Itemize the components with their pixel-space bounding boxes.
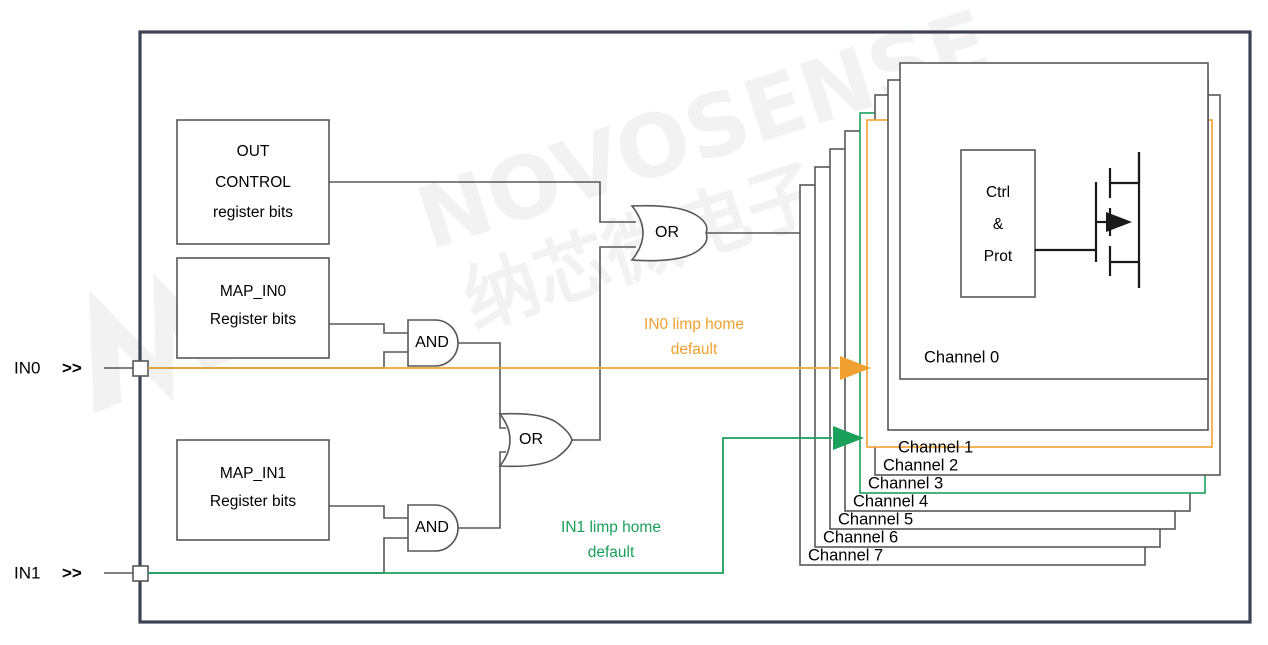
block-ctrl-prot-line-2: & [993, 216, 1004, 233]
input-in1-label: IN1 [14, 563, 40, 582]
in0-limp-home-label-1: IN0 limp home [644, 316, 744, 333]
block-out-control: OUT CONTROL register bits [177, 120, 329, 244]
block-ctrl-prot-line-3: Prot [984, 248, 1013, 265]
block-map-in1-line-2: Register bits [210, 493, 296, 510]
and-gate-in1: AND [408, 505, 458, 551]
channel-label-4: Channel 4 [853, 492, 928, 510]
block-diagram: NOVOSENSE 纳芯微电子 IN0 >> IN1 >> OUT CONTRO… [0, 0, 1268, 645]
input-in1-arrow: >> [62, 563, 82, 582]
input-in0-label: IN0 [14, 358, 40, 377]
or-gate-map: OR [500, 414, 572, 467]
diagram-canvas: NOVOSENSE 纳芯微电子 IN0 >> IN1 >> OUT CONTRO… [0, 0, 1268, 645]
in1-limp-home-label-2: default [588, 544, 635, 561]
channel-label-0: Channel 0 [924, 348, 999, 366]
block-map-in0: MAP_IN0 Register bits [177, 258, 329, 358]
and-gate-in0-label: AND [415, 334, 449, 351]
or-gate-output-label: OR [655, 224, 679, 241]
channel-label-1: Channel 1 [898, 438, 973, 456]
block-map-in1-line-1: MAP_IN1 [220, 465, 286, 482]
and-gate-in0: AND [408, 320, 458, 366]
and-gate-in1-label: AND [415, 519, 449, 536]
pin-pad-in1 [133, 566, 148, 581]
block-out-control-line-1: OUT [237, 143, 270, 160]
input-in0-arrow: >> [62, 358, 82, 377]
block-out-control-line-3: register bits [213, 204, 293, 221]
block-ctrl-prot-line-1: Ctrl [986, 184, 1010, 201]
block-map-in0-line-1: MAP_IN0 [220, 283, 287, 300]
or-gate-map-label: OR [519, 431, 543, 448]
block-map-in0-line-2: Register bits [210, 311, 296, 328]
block-ctrl-prot: Ctrl & Prot [961, 150, 1035, 297]
pin-pad-in0 [133, 361, 148, 376]
block-out-control-line-2: CONTROL [215, 174, 291, 191]
channel-label-2: Channel 2 [883, 456, 958, 474]
in0-limp-home-label-2: default [671, 341, 718, 358]
channel-label-3: Channel 3 [868, 474, 943, 492]
or-gate-output: OR [632, 206, 707, 261]
channel-label-6: Channel 6 [823, 528, 898, 546]
block-map-in1: MAP_IN1 Register bits [177, 440, 329, 540]
in1-limp-home-label-1: IN1 limp home [561, 519, 661, 536]
channel-label-5: Channel 5 [838, 510, 913, 528]
channel-box-0[interactable]: Channel 0 [900, 63, 1208, 379]
channel-label-7: Channel 7 [808, 546, 883, 564]
